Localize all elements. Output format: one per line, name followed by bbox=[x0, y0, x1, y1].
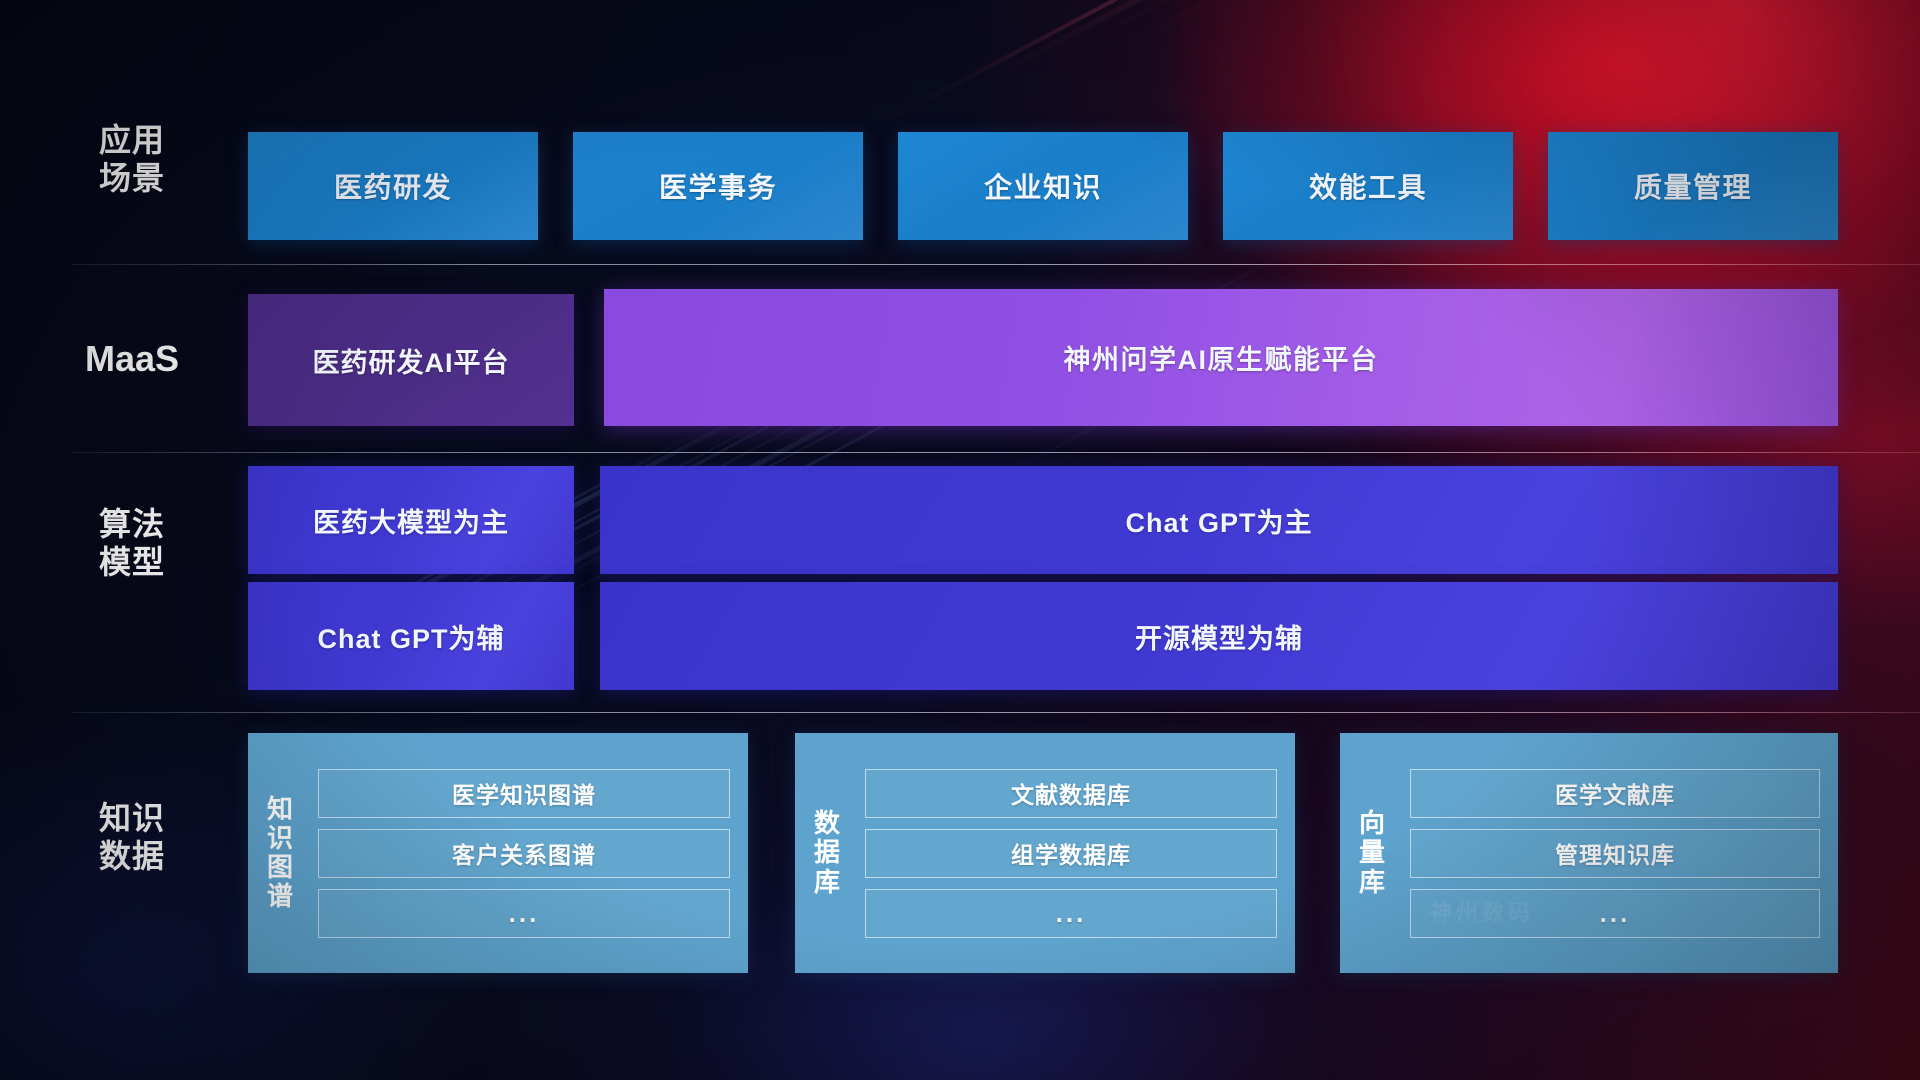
divider-3 bbox=[72, 712, 1920, 713]
row-label-maas: MaaS bbox=[72, 338, 192, 380]
algo-card-medical-llm-primary-label: 医药大模型为主 bbox=[313, 501, 509, 540]
row-label-knowledge-data: 知识 数据 bbox=[72, 800, 192, 876]
knowledge-block-graph-title: 知识图谱 bbox=[248, 733, 312, 973]
algo-card-medical-llm-primary[interactable]: 医药大模型为主 bbox=[248, 466, 574, 574]
knowledge-block-vector-items: 医学文献库 管理知识库 ... bbox=[1404, 733, 1838, 973]
knowledge-block-database-title: 数据库 bbox=[795, 733, 859, 973]
app-card-4-label: 效能工具 bbox=[1309, 166, 1427, 206]
knowledge-block-database-title-text: 数据库 bbox=[814, 809, 840, 896]
algo-card-opensource-secondary[interactable]: 开源模型为辅 bbox=[600, 582, 1838, 690]
app-card-3[interactable]: 企业知识 bbox=[898, 132, 1188, 240]
list-item[interactable]: ... bbox=[318, 889, 730, 938]
algo-card-chatgpt-primary-label: Chat GPT为主 bbox=[1125, 501, 1312, 540]
app-card-2[interactable]: 医学事务 bbox=[573, 132, 863, 240]
row-label-application-scenarios: 应用 场景 bbox=[72, 122, 192, 198]
list-item[interactable]: ... bbox=[1410, 889, 1820, 938]
app-card-5-label: 质量管理 bbox=[1634, 166, 1752, 206]
app-card-2-label: 医学事务 bbox=[659, 166, 777, 206]
algo-card-chatgpt-secondary[interactable]: Chat GPT为辅 bbox=[248, 582, 574, 690]
maas-card-medical-ai-platform-label: 医药研发AI平台 bbox=[313, 341, 510, 380]
app-card-3-label: 企业知识 bbox=[984, 166, 1102, 206]
app-card-1[interactable]: 医药研发 bbox=[248, 132, 538, 240]
knowledge-block-graph-title-text: 知识图谱 bbox=[267, 795, 293, 911]
list-item[interactable]: 医学文献库 bbox=[1410, 769, 1820, 818]
algo-card-chatgpt-primary[interactable]: Chat GPT为主 bbox=[600, 466, 1838, 574]
app-card-1-label: 医药研发 bbox=[334, 166, 452, 206]
knowledge-block-database[interactable]: 数据库 文献数据库 组学数据库 ... bbox=[795, 733, 1295, 973]
knowledge-block-vector-title-text: 向量库 bbox=[1359, 809, 1385, 896]
knowledge-block-graph[interactable]: 知识图谱 医学知识图谱 客户关系图谱 ... bbox=[248, 733, 748, 973]
list-item[interactable]: 文献数据库 bbox=[865, 769, 1277, 818]
app-card-4[interactable]: 效能工具 bbox=[1223, 132, 1513, 240]
divider-2 bbox=[72, 452, 1920, 453]
maas-card-shenzhou-platform[interactable]: 神州问学AI原生赋能平台 bbox=[604, 289, 1838, 426]
maas-card-shenzhou-platform-label: 神州问学AI原生赋能平台 bbox=[1064, 338, 1379, 377]
maas-card-medical-ai-platform[interactable]: 医药研发AI平台 bbox=[248, 294, 574, 426]
divider-1 bbox=[72, 264, 1920, 265]
app-card-5[interactable]: 质量管理 bbox=[1548, 132, 1838, 240]
algo-card-opensource-secondary-label: 开源模型为辅 bbox=[1135, 617, 1303, 656]
list-item[interactable]: 客户关系图谱 bbox=[318, 829, 730, 878]
list-item[interactable]: 管理知识库 bbox=[1410, 829, 1820, 878]
list-item[interactable]: ... bbox=[865, 889, 1277, 938]
row-label-algorithm-model: 算法 模型 bbox=[72, 506, 192, 582]
knowledge-block-vector[interactable]: 向量库 医学文献库 管理知识库 ... bbox=[1340, 733, 1838, 973]
diagram-content: 应用 场景 医药研发 医学事务 企业知识 效能工具 质量管理 MaaS 医药研发… bbox=[0, 0, 1920, 1080]
list-item[interactable]: 医学知识图谱 bbox=[318, 769, 730, 818]
slide-canvas: 应用 场景 医药研发 医学事务 企业知识 效能工具 质量管理 MaaS 医药研发… bbox=[0, 0, 1920, 1080]
list-item[interactable]: 组学数据库 bbox=[865, 829, 1277, 878]
algo-card-chatgpt-secondary-label: Chat GPT为辅 bbox=[317, 617, 504, 656]
knowledge-block-database-items: 文献数据库 组学数据库 ... bbox=[859, 733, 1295, 973]
knowledge-block-vector-title: 向量库 bbox=[1340, 733, 1404, 973]
knowledge-block-graph-items: 医学知识图谱 客户关系图谱 ... bbox=[312, 733, 748, 973]
